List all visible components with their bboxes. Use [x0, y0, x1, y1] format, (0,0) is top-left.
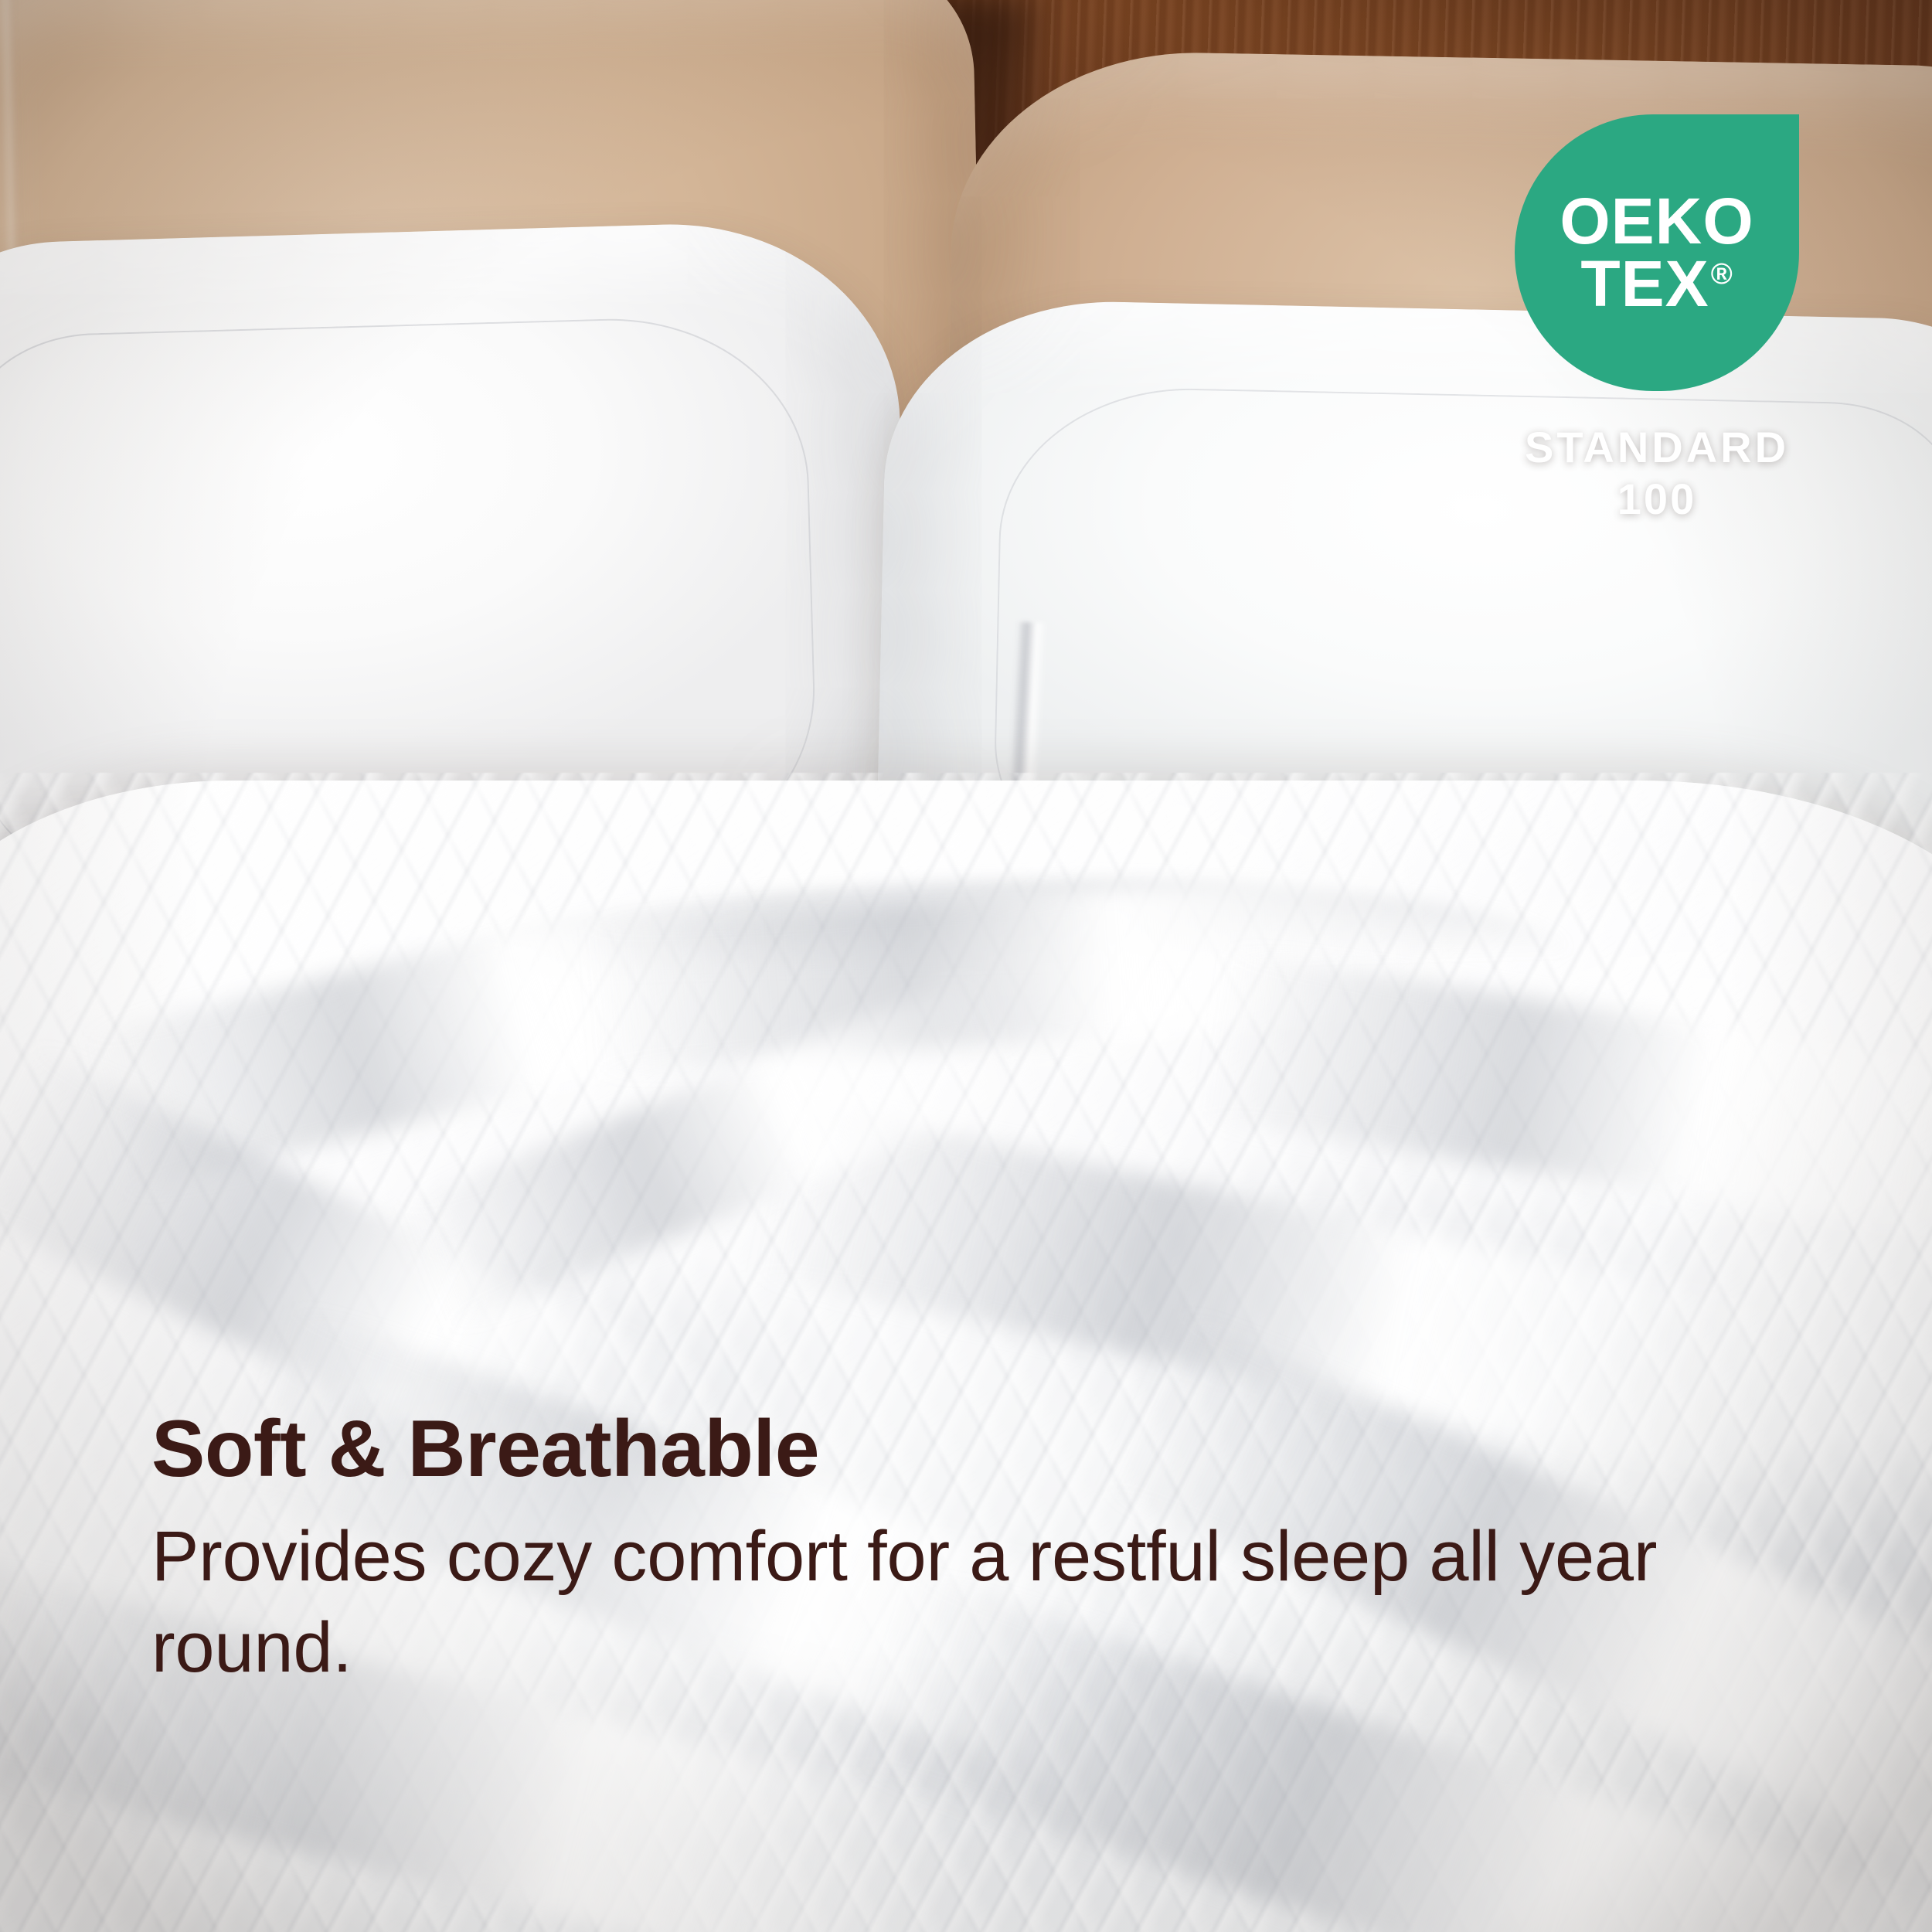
- oeko-tex-badge-line-tex: TEX®: [1580, 253, 1733, 315]
- oeko-tex-badge-tex-text: TEX: [1580, 247, 1709, 320]
- oeko-tex-standard-number: 100: [1515, 475, 1799, 524]
- oeko-tex-badge: OEKO TEX®: [1515, 114, 1799, 391]
- feature-headline: Soft & Breathable: [151, 1406, 1743, 1492]
- oeko-tex-badge-line-oeko: OEKO: [1560, 190, 1753, 253]
- oeko-tex-standard-label: STANDARD: [1515, 423, 1799, 472]
- feature-caption-block: Soft & Breathable Provides cozy comfort …: [151, 1406, 1743, 1694]
- product-feature-image: OEKO TEX® STANDARD 100 Soft & Breathable…: [0, 0, 1932, 1932]
- oeko-tex-badge-caption: STANDARD 100: [1515, 423, 1799, 523]
- registered-trademark-icon: ®: [1711, 258, 1733, 291]
- feature-description: Provides cozy comfort for a restful slee…: [151, 1512, 1666, 1694]
